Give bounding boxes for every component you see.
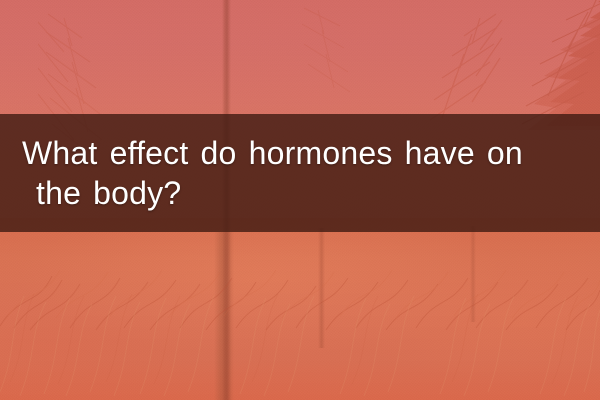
screenshot-canvas: What effect do hormones have on the body… [0,0,600,400]
caption-line-1: What effect do hormones have on [22,133,586,173]
caption-banner: What effect do hormones have on the body… [0,114,600,232]
caption-line-2: the body? [22,173,586,213]
caption-text: What effect do hormones have on the body… [14,133,586,213]
